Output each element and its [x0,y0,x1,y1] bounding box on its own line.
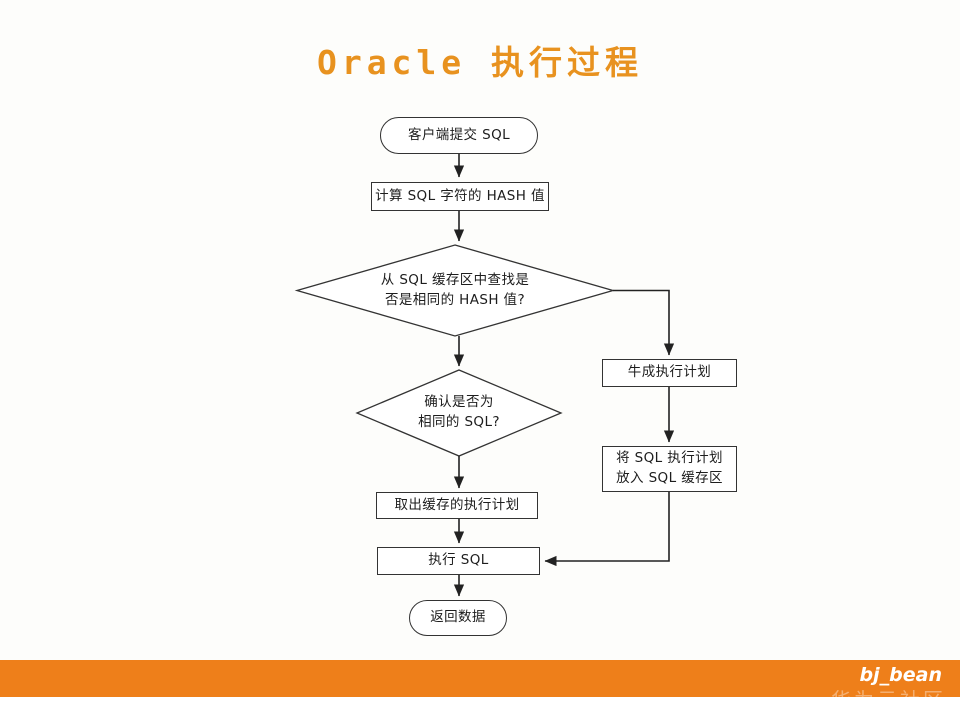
node-decision-find-hash-in-cache[interactable]: 从 SQL 缓存区中查找是 否是相同的 HASH 值? [297,245,613,336]
node-label: 客户端提交 SQL [408,126,510,146]
node-label: 确认是否为 相同的 SQL? [412,393,506,432]
watermark-brand: bj_bean [860,664,942,686]
watermark-subtext: 华为云社区 [831,684,946,713]
edge-putcache-to-exec [545,492,669,561]
node-fetch-cached-execution-plan[interactable]: 取出缓存的执行计划 [376,492,538,519]
node-label: 牛成执行计划 [628,363,711,383]
footer-white-strip [0,697,960,720]
footer-bar [0,660,960,697]
node-label: 从 SQL 缓存区中查找是 否是相同的 HASH 值? [375,271,536,310]
node-label: 取出缓存的执行计划 [394,496,519,516]
node-label: 返回数据 [430,608,486,628]
node-put-plan-into-sql-cache[interactable]: 将 SQL 执行计划 放入 SQL 缓存区 [602,446,737,492]
node-return-data[interactable]: 返回数据 [409,600,507,636]
node-execute-sql[interactable]: 执行 SQL [377,547,540,575]
flowchart: 客户端提交 SQL 计算 SQL 字符的 HASH 值 从 SQL 缓存区中查找… [0,0,960,660]
node-generate-execution-plan[interactable]: 牛成执行计划 [602,359,737,387]
node-label: 计算 SQL 字符的 HASH 值 [375,187,545,207]
node-label: 执行 SQL [428,551,488,571]
slide-canvas: Oracle 执行过程 [0,0,960,720]
node-decision-is-same-sql[interactable]: 确认是否为 相同的 SQL? [357,370,561,456]
node-compute-sql-hash[interactable]: 计算 SQL 字符的 HASH 值 [371,182,549,211]
edge-cache-to-plan [613,291,669,356]
node-client-submit-sql[interactable]: 客户端提交 SQL [380,117,538,154]
node-label: 将 SQL 执行计划 放入 SQL 缓存区 [616,449,723,488]
